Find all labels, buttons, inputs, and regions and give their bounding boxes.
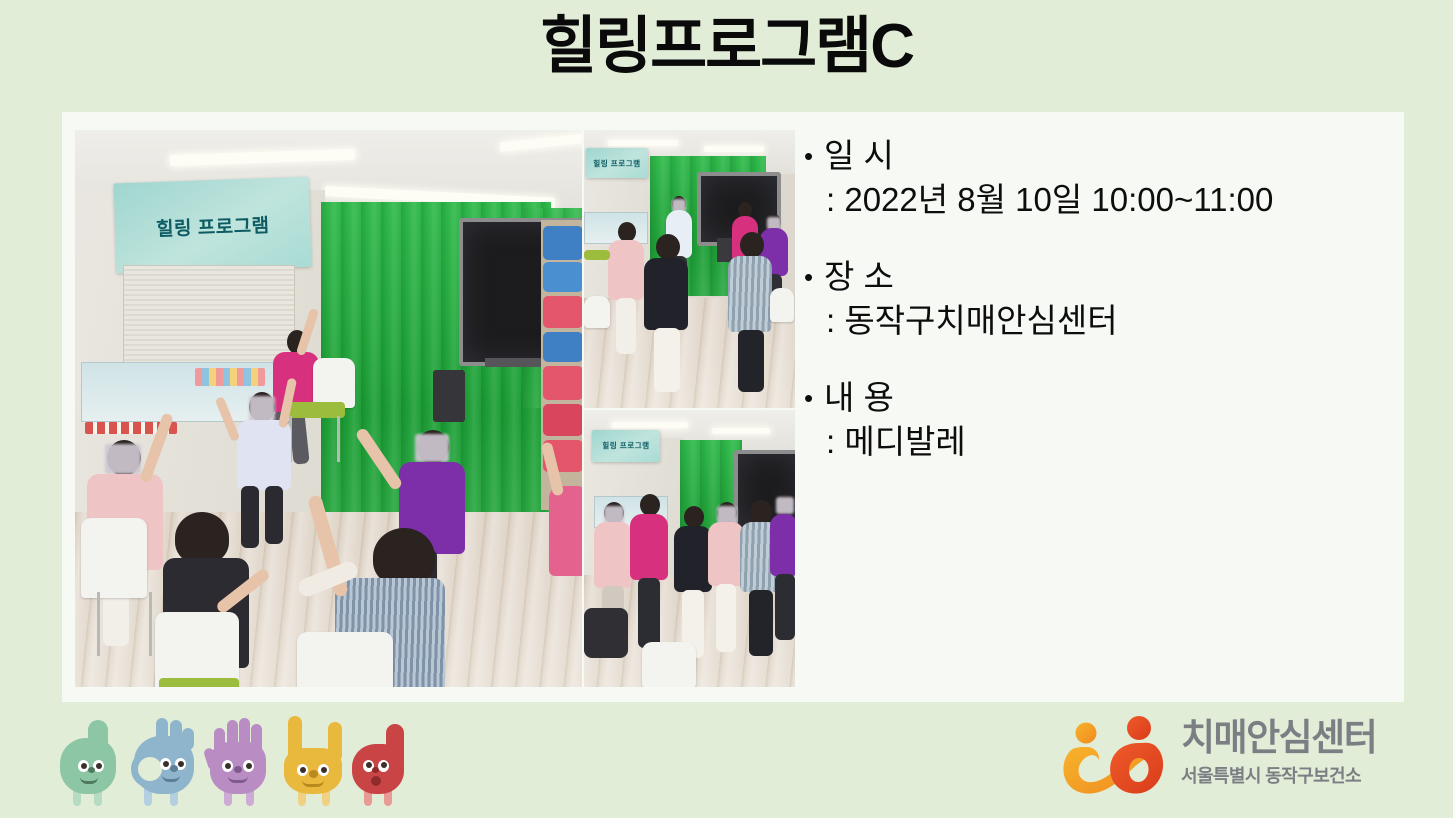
leg xyxy=(775,574,795,640)
mascot-eye xyxy=(378,760,389,772)
info-item-content: •내 용 : 메디발레 xyxy=(804,376,1374,463)
mascot-pupil xyxy=(178,761,184,767)
mascot-eye xyxy=(243,760,254,772)
info-item-location: •장 소 : 동작구치매안심센터 xyxy=(804,255,1374,342)
head xyxy=(684,506,704,528)
mascot-pupil xyxy=(300,767,306,773)
chair xyxy=(770,288,794,322)
photo-scene: 힐링 프로그램 xyxy=(75,130,582,687)
mascot-rock-sign-yellow xyxy=(278,714,348,806)
ceiling-lamp xyxy=(608,140,678,146)
chair-seat xyxy=(159,678,239,687)
mascot-pupil xyxy=(225,763,231,769)
face-blur xyxy=(604,506,624,524)
participant xyxy=(630,494,670,650)
mascot-pointing-red xyxy=(352,714,410,806)
torso xyxy=(630,514,668,580)
head xyxy=(640,494,660,516)
program-photo-standing-circle: 힐링 프로그램 xyxy=(584,130,795,408)
page-title: 힐링프로그램C xyxy=(0,8,1453,86)
slide-root: 힐링프로그램C 힐링 프로그램 xyxy=(0,0,1453,818)
photo-scene: 힐링 프로그램 xyxy=(584,410,795,688)
participant xyxy=(642,234,692,384)
wall-decoration xyxy=(195,368,265,386)
main-program-photo: 힐링 프로그램 xyxy=(75,130,582,687)
mascot-finger xyxy=(288,716,302,760)
mascot-finger xyxy=(239,718,250,756)
mascot-open-palm-purple xyxy=(206,714,274,806)
tv-stand xyxy=(485,358,545,367)
program-banner: 힐링 프로그램 xyxy=(592,430,660,462)
program-banner: 힐링 프로그램 xyxy=(113,177,311,274)
info-label-row: •장 소 xyxy=(804,255,1374,299)
mascot-finger xyxy=(328,722,342,762)
mascot-finger xyxy=(182,728,194,750)
bullet-icon: • xyxy=(804,260,824,294)
chair-leg xyxy=(97,592,100,656)
banner-text: 힐링 프로그램 xyxy=(155,209,269,240)
leg xyxy=(716,584,736,652)
mascot-ok-sign-blue xyxy=(130,714,200,806)
yoga-mat xyxy=(543,262,582,292)
mascot-pupil xyxy=(81,763,87,769)
av-cart xyxy=(433,370,465,422)
info-item-datetime: •일 시 : 2022년 8월 10일 10:00~11:00 xyxy=(804,134,1374,221)
chair xyxy=(584,296,610,328)
info-label-row: •일 시 xyxy=(804,134,1374,178)
info-value: : 2022년 8월 10일 10:00~11:00 xyxy=(804,178,1374,222)
participant xyxy=(770,494,795,644)
mascot-thumb xyxy=(88,720,108,760)
info-block: •일 시 : 2022년 8월 10일 10:00~11:00 •장 소 : 동… xyxy=(804,134,1374,463)
photo-scene: 힐링 프로그램 xyxy=(584,130,795,408)
face-blur xyxy=(415,434,449,462)
mascot-finger xyxy=(386,724,404,764)
yoga-mat xyxy=(543,404,582,436)
mascot-row xyxy=(60,714,410,806)
torso xyxy=(549,486,582,576)
chimae-center-logo-icon xyxy=(1055,714,1173,800)
info-label-row: •내 용 xyxy=(804,376,1374,420)
program-photo-clapping: 힐링 프로그램 xyxy=(584,410,795,688)
face-blur xyxy=(717,506,737,524)
ceiling-lamp xyxy=(612,422,688,428)
torso xyxy=(674,526,712,592)
center-logo: 치매안심센터 서울특별시 동작구보건소 xyxy=(1055,712,1405,808)
program-banner: 힐링 프로그램 xyxy=(586,148,648,178)
ceiling-lamp xyxy=(704,146,764,152)
mascot-pupil xyxy=(366,762,372,768)
yoga-mat xyxy=(543,332,582,362)
ceiling-lamp xyxy=(712,428,770,434)
face-blur xyxy=(776,497,794,514)
photo-collage: 힐링 프로그램 xyxy=(75,130,795,687)
mascot-eye xyxy=(222,760,233,772)
mascot-nose xyxy=(309,770,318,778)
chair xyxy=(313,358,355,408)
participant xyxy=(543,460,582,640)
head xyxy=(740,232,764,258)
head xyxy=(175,512,229,564)
banner-text: 힐링 프로그램 xyxy=(593,158,640,168)
torso xyxy=(594,522,632,588)
torso xyxy=(237,420,291,490)
leg xyxy=(654,328,680,392)
torso xyxy=(728,256,772,332)
mascot-nose xyxy=(234,766,242,773)
mascot-finger xyxy=(251,724,262,756)
chair xyxy=(155,612,239,687)
info-label: 내 용 xyxy=(824,379,894,416)
torso xyxy=(708,522,744,586)
yoga-mat xyxy=(543,296,582,328)
logo-subtitle: 서울특별시 동작구보건소 xyxy=(1181,762,1405,788)
participant xyxy=(728,232,776,382)
leg xyxy=(738,330,764,392)
content-panel: 힐링 프로그램 xyxy=(62,112,1404,702)
yoga-mat xyxy=(543,366,582,400)
chair-seat xyxy=(584,250,610,260)
mascot-eye xyxy=(318,764,329,776)
torso xyxy=(770,514,795,576)
head xyxy=(656,234,680,260)
torso xyxy=(644,258,688,330)
yoga-mat xyxy=(543,226,582,260)
mascot-eye xyxy=(297,764,308,776)
info-label: 장 소 xyxy=(824,258,894,295)
mascot-nose xyxy=(372,767,379,773)
info-label: 일 시 xyxy=(824,137,894,174)
mascot-mouth xyxy=(302,780,324,787)
face-blur xyxy=(249,396,275,422)
mascot-nose xyxy=(170,765,178,772)
bullet-icon: • xyxy=(804,139,824,173)
chair xyxy=(81,518,147,598)
bullet-icon: • xyxy=(804,381,824,415)
mascot-pupil xyxy=(96,763,102,769)
head xyxy=(618,222,636,242)
chair xyxy=(642,642,696,688)
mascot-finger xyxy=(214,728,225,756)
logo-text: 치매안심센터 서울특별시 동작구보건소 xyxy=(1181,718,1405,788)
chair xyxy=(297,632,393,687)
mascot-pupil xyxy=(381,762,387,768)
mascot-pupil xyxy=(246,763,252,769)
leg xyxy=(638,578,660,648)
info-value: : 동작구치매안심센터 xyxy=(804,299,1374,343)
leg xyxy=(616,298,636,354)
torso xyxy=(608,240,644,300)
info-value: : 메디발레 xyxy=(804,420,1374,464)
mascot-pupil xyxy=(321,767,327,773)
mascot-finger xyxy=(156,718,168,746)
mascot-finger xyxy=(227,720,238,756)
photo-right-column: 힐링 프로그램 xyxy=(584,130,795,687)
mascot-thumbs-up-green xyxy=(60,714,122,806)
chair xyxy=(584,608,628,658)
chair-leg xyxy=(337,416,340,462)
chair-leg xyxy=(149,592,152,656)
banner-text: 힐링 프로그램 xyxy=(602,440,649,450)
face-blur xyxy=(105,444,141,474)
logo-title: 치매안심센터 xyxy=(1181,718,1405,759)
head xyxy=(750,500,772,524)
mascot-mouth xyxy=(371,776,381,786)
mascot-finger xyxy=(170,720,182,746)
mascot-pupil xyxy=(163,761,169,767)
mascot-nose xyxy=(88,767,95,773)
